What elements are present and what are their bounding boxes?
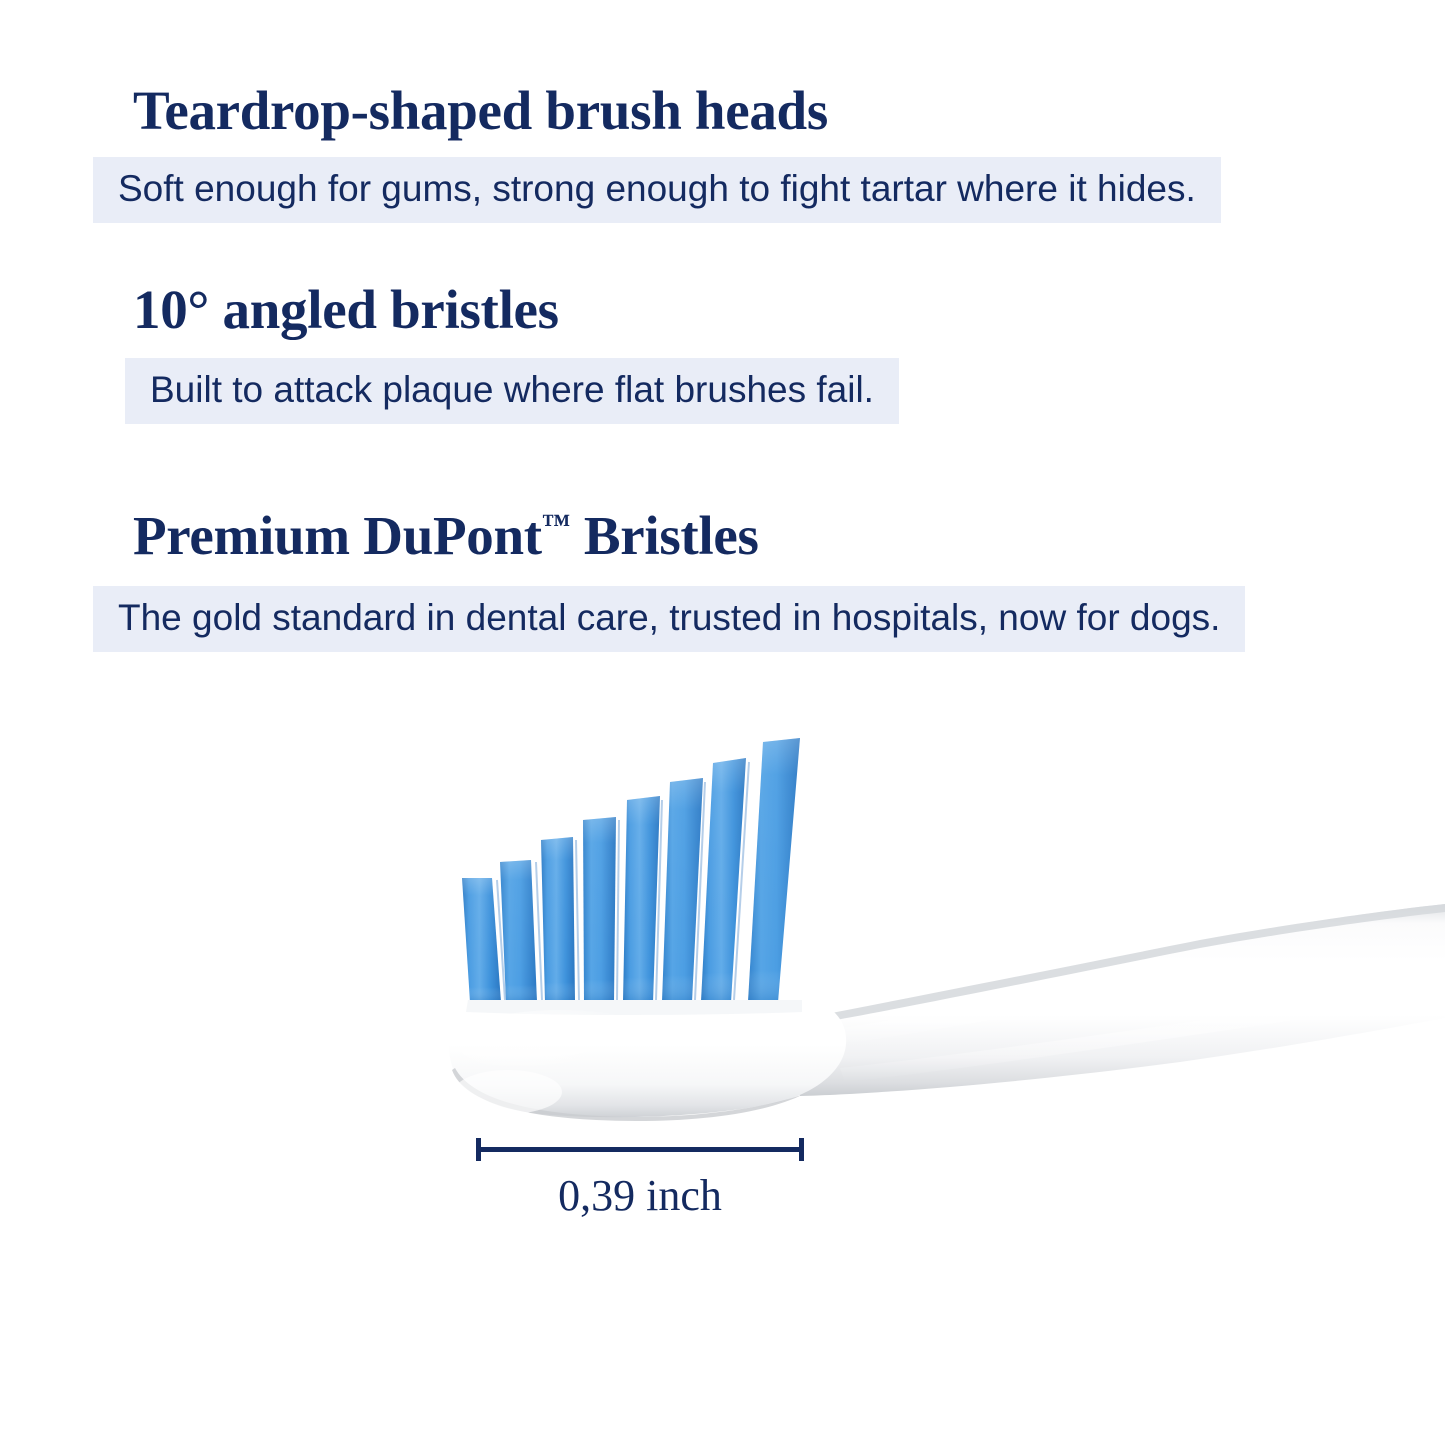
head-tip-highlight xyxy=(454,1070,562,1114)
bristle-tuft-shade xyxy=(701,758,746,1002)
bristle-tuft-shade xyxy=(748,738,800,1002)
dimension-cap-left xyxy=(476,1138,481,1161)
bristle-tuft-shade xyxy=(541,837,575,1002)
feature-subtitle-wrap: Soft enough for gums, strong enough to f… xyxy=(93,157,1221,223)
product-feature-infographic: Teardrop-shaped brush heads Soft enough … xyxy=(0,0,1445,1445)
feature-block-dupont-bristles: Premium DuPont™ Bristles The gold standa… xyxy=(0,508,1445,652)
feature-subtitle: Built to attack plaque where flat brushe… xyxy=(125,358,899,424)
dimension-bar xyxy=(476,1147,804,1152)
feature-title-text-tail: Bristles xyxy=(570,505,758,566)
trademark-symbol: ™ xyxy=(542,509,571,540)
bristle-tuft-shade xyxy=(462,878,501,1002)
head-bristle-seat xyxy=(466,1000,802,1015)
feature-title-text: Premium DuPont xyxy=(133,505,542,566)
dimension-annotation: 0,39 inch xyxy=(0,1128,1445,1238)
feature-subtitle-wrap: The gold standard in dental care, truste… xyxy=(93,586,1245,652)
feature-subtitle: Soft enough for gums, strong enough to f… xyxy=(93,157,1221,223)
feature-block-teardrop-heads: Teardrop-shaped brush heads Soft enough … xyxy=(0,83,1445,223)
dimension-cap-right xyxy=(799,1138,804,1161)
feature-subtitle-wrap: Built to attack plaque where flat brushe… xyxy=(125,358,899,424)
bristle-tufts xyxy=(462,738,800,1002)
dimension-label: 0,39 inch xyxy=(476,1170,804,1221)
toothbrush-product-image xyxy=(0,700,1445,1160)
feature-title: 10° angled bristles xyxy=(133,282,1445,337)
feature-subtitle: The gold standard in dental care, truste… xyxy=(93,586,1245,652)
bristle-tuft-shade xyxy=(583,817,616,1002)
bristle-tuft-shade xyxy=(623,796,660,1002)
bristle-tuft-shade xyxy=(500,860,537,1002)
feature-title: Premium DuPont™ Bristles xyxy=(133,508,1445,563)
feature-title: Teardrop-shaped brush heads xyxy=(133,83,1445,138)
dimension-line xyxy=(476,1138,804,1160)
feature-block-angled-bristles: 10° angled bristles Built to attack plaq… xyxy=(0,282,1445,424)
